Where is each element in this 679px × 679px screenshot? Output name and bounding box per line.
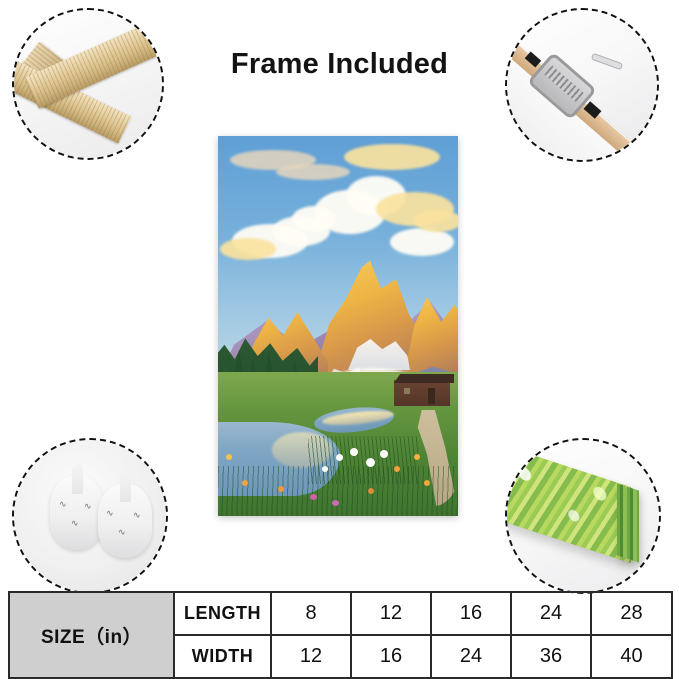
wildflower-pink	[332, 500, 339, 506]
adhesive-hook-right: ∿ ∿ ∿	[98, 484, 152, 558]
wildflower-orange	[394, 466, 400, 472]
wildflower-orange	[278, 486, 284, 492]
wildflower-orange	[414, 454, 420, 460]
canvas-wrapped-side	[617, 483, 639, 562]
cloud-puff	[292, 206, 336, 232]
hook-stem	[120, 472, 131, 502]
detail-circle-wood-frame	[12, 8, 164, 160]
canvas-edge-illustration	[507, 440, 659, 592]
wildflower-white	[380, 450, 388, 458]
wildflower-yellow	[226, 454, 232, 460]
wood-frame-moulding-illustration	[14, 10, 162, 158]
detail-circle-wall-hooks: ∿ ∿ ∿ ∿ ∿ ∿	[12, 438, 168, 594]
hook-texture-mark: ∿	[84, 502, 92, 512]
cloud-warm	[220, 238, 276, 260]
wildflower-orange	[242, 480, 248, 486]
length-value-3: 16	[431, 592, 511, 635]
hook-texture-mark: ∿	[118, 528, 126, 538]
length-value-5: 28	[591, 592, 672, 635]
row-label-length: LENGTH	[174, 592, 271, 635]
wildflower-white	[366, 458, 375, 467]
foreground-grass	[218, 466, 458, 516]
width-value-5: 40	[591, 635, 672, 678]
width-value-2: 16	[351, 635, 431, 678]
wildflower-white	[336, 454, 343, 461]
cabin-body	[394, 380, 450, 406]
cloud-wisp	[276, 164, 350, 180]
hook-texture-mark: ∿	[71, 519, 79, 529]
length-value-1: 8	[271, 592, 351, 635]
hook-texture-mark: ∿	[106, 509, 114, 519]
row-label-width: WIDTH	[174, 635, 271, 678]
detail-circle-canvas-edge	[505, 438, 661, 594]
wildflower-pink	[310, 494, 317, 500]
cloud-puff	[390, 228, 454, 256]
adhesive-hooks-illustration: ∿ ∿ ∿ ∿ ∿ ∿	[14, 440, 166, 592]
artwork-canvas-preview	[218, 136, 458, 516]
sawtooth-hanger-illustration	[507, 10, 657, 160]
length-value-4: 24	[511, 592, 591, 635]
width-value-1: 12	[271, 635, 351, 678]
product-info-sheet: Frame Included ∿ ∿ ∿	[0, 0, 679, 679]
adhesive-hook-left: ∿ ∿ ∿	[50, 476, 104, 550]
cabin-window	[404, 388, 410, 394]
size-header-cell: SIZE（in）	[9, 592, 174, 678]
size-chart-table: SIZE（in） LENGTH 8 12 16 24 28 WIDTH 12 1…	[8, 591, 673, 679]
wildflower-orange	[424, 480, 430, 486]
length-value-2: 12	[351, 592, 431, 635]
hook-stem	[72, 464, 83, 494]
wildflower-white	[350, 448, 358, 456]
table-row: SIZE（in） LENGTH 8 12 16 24 28	[9, 592, 672, 635]
wildflower-white	[322, 466, 328, 472]
cabin-door	[428, 388, 435, 404]
cloud-warm	[344, 144, 440, 170]
hook-texture-mark: ∿	[59, 500, 67, 510]
wildflower-orange	[368, 488, 374, 494]
cloud-warm	[414, 210, 458, 232]
width-value-4: 36	[511, 635, 591, 678]
cabin-roof	[390, 374, 454, 383]
detail-circle-hanging-hardware	[505, 8, 659, 162]
hook-texture-mark: ∿	[133, 511, 141, 521]
width-value-3: 24	[431, 635, 511, 678]
